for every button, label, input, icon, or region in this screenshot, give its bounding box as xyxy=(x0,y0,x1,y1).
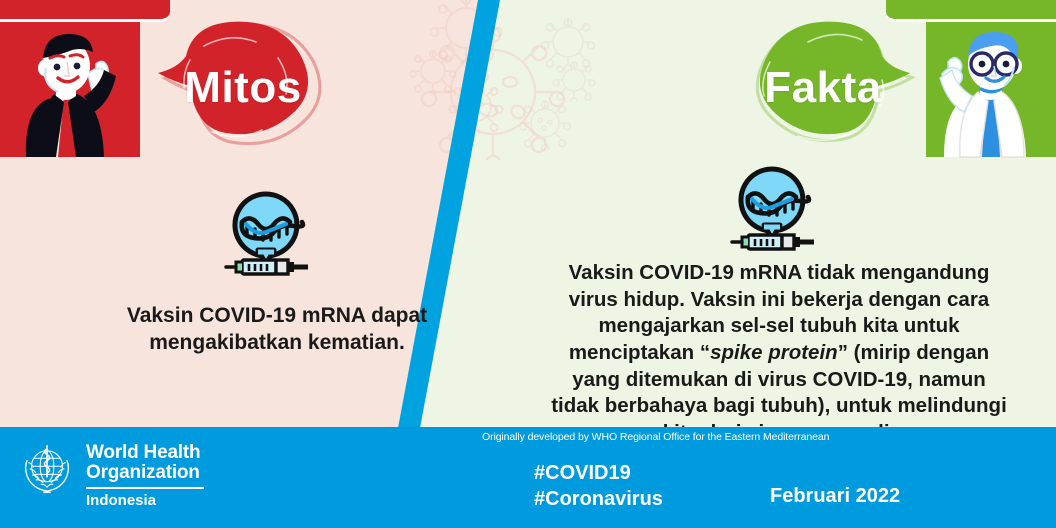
fact-character-plate xyxy=(926,22,1056,157)
man-pointing-up-illustration xyxy=(0,22,140,157)
publication-date: Februari 2022 xyxy=(770,485,900,508)
myth-body-text: Vaksin COVID-19 mRNA dapat mengakibatkan… xyxy=(118,302,436,357)
who-org-line-1: World Health xyxy=(86,443,204,463)
footer-bar: World Health Organization Indonesia Orig… xyxy=(0,427,1056,528)
attribution-text: Originally developed by WHO Regional Off… xyxy=(482,431,829,443)
poster-root: Mitos Fakta xyxy=(0,0,1056,528)
hashtag-covid19: #COVID19 xyxy=(534,460,663,486)
who-logo: World Health Organization Indonesia xyxy=(16,439,204,509)
fact-speech-bubble: Fakta xyxy=(748,22,916,154)
top-banner-green xyxy=(886,0,1056,22)
who-divider-rule xyxy=(86,487,204,489)
hashtags-block: #COVID19 #Coronavirus xyxy=(534,460,663,513)
top-banner-red xyxy=(0,0,170,22)
mrna-vaccine-icon-left xyxy=(222,188,310,278)
mrna-vaccine-icon-right xyxy=(728,163,816,253)
who-country-label: Indonesia xyxy=(86,492,204,509)
who-wordmark: World Health Organization Indonesia xyxy=(86,439,204,509)
fact-bubble-label: Fakta xyxy=(748,22,916,154)
myth-speech-bubble: Mitos xyxy=(152,22,312,154)
doctor-pointing-up-illustration xyxy=(926,22,1056,157)
who-emblem-icon xyxy=(16,439,78,501)
myth-bubble-label: Mitos xyxy=(152,22,312,154)
who-org-line-2: Organization xyxy=(86,463,204,483)
fact-body-text: Vaksin COVID-19 mRNA tidak mengandung vi… xyxy=(548,260,1010,446)
hashtag-coronavirus: #Coronavirus xyxy=(534,486,663,512)
fact-text-emphasis: spike protein xyxy=(710,341,838,364)
myth-character-plate xyxy=(0,22,140,157)
virus-watermark-right-3 xyxy=(518,96,572,150)
